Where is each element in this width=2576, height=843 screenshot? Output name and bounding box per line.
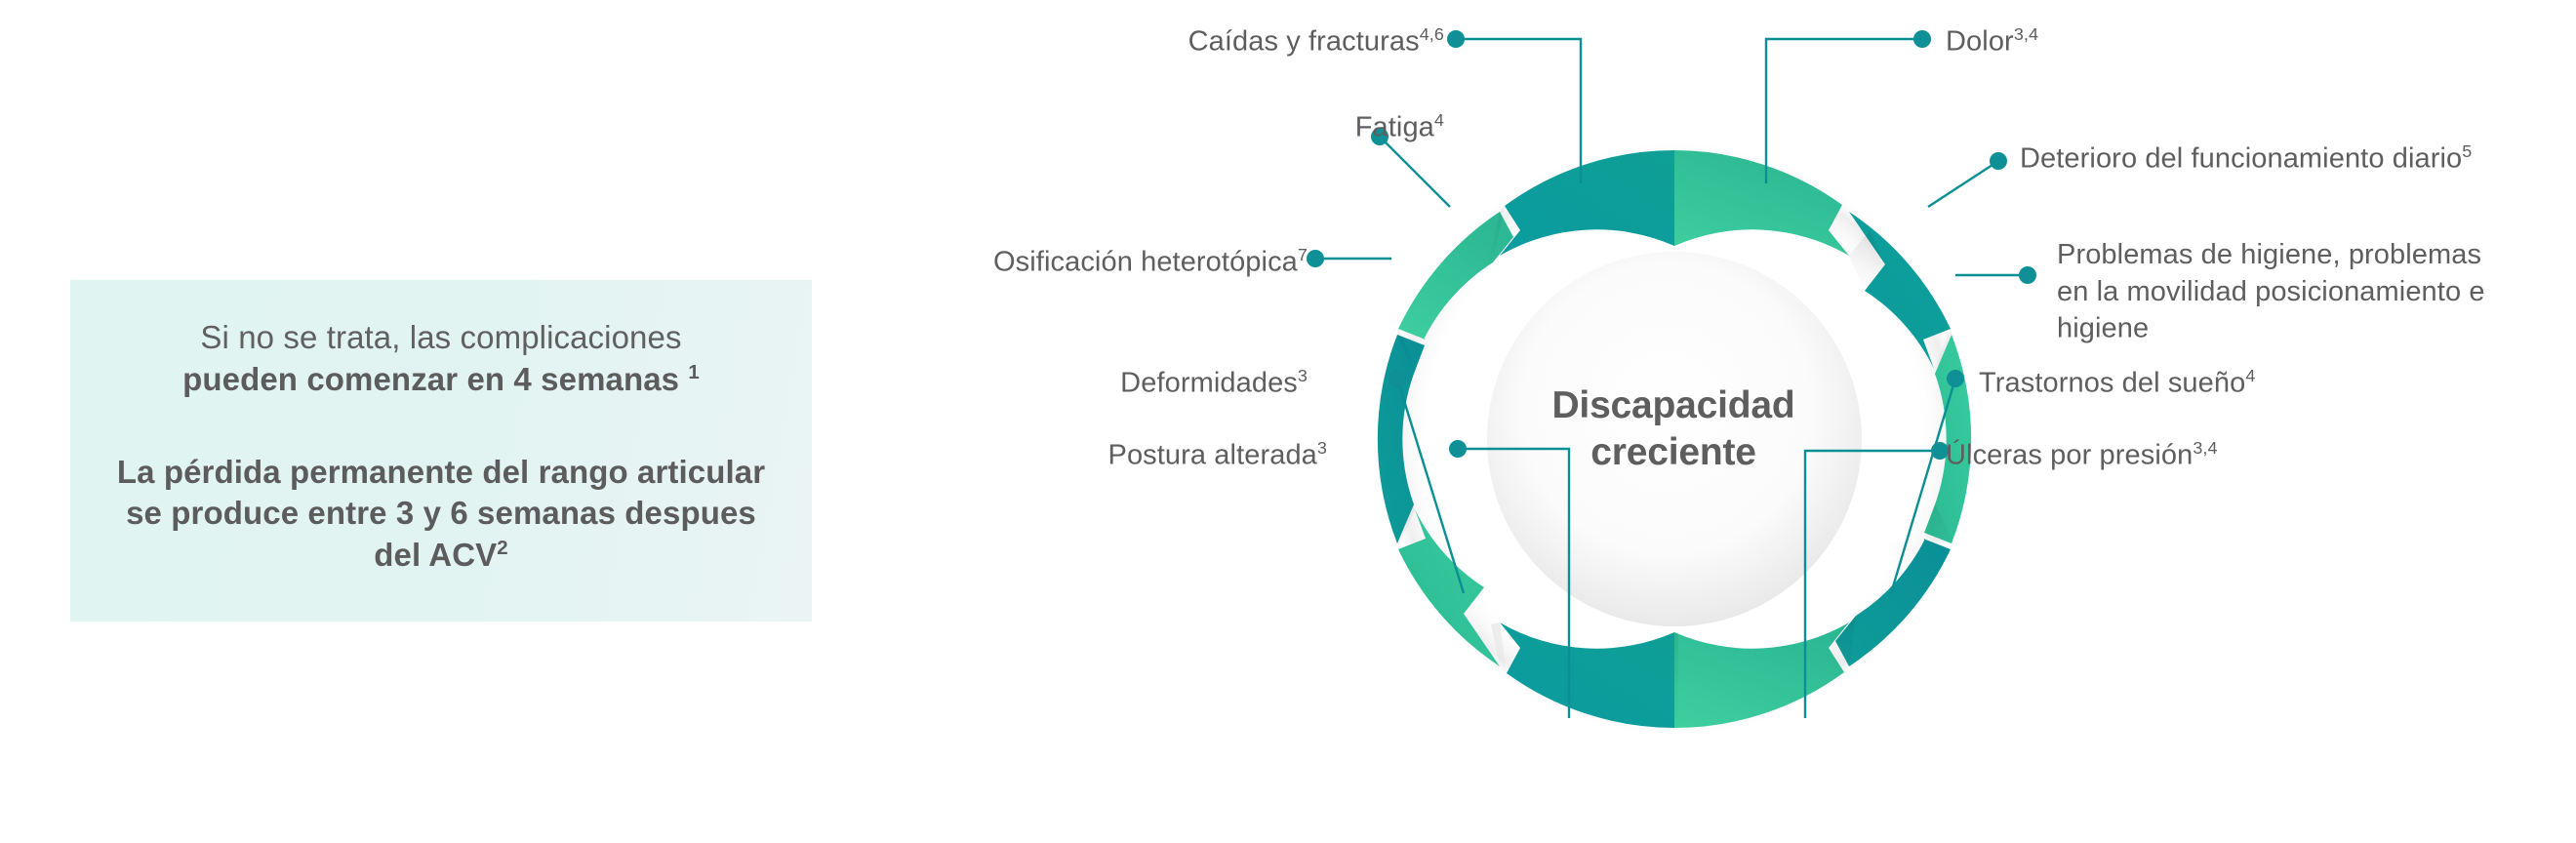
footnote-ref-caidas: 4,6 bbox=[1420, 24, 1444, 44]
callout-problemas-higiene: Problemas de higiene, problemas en la mo… bbox=[2057, 237, 2516, 348]
footnote-ref-deformidades: 3 bbox=[1298, 366, 1308, 385]
info-paragraph-1-light: Si no se trata, las complicaciones bbox=[200, 319, 681, 355]
callout-deformidades: Deformidades3 bbox=[976, 365, 1308, 402]
callout-trastornos-sueno: Trastornos del sueño4 bbox=[1979, 365, 2389, 402]
footnote-ref-ulceras: 3,4 bbox=[2193, 438, 2217, 458]
info-panel: Si no se trata, las complicaciones puede… bbox=[70, 280, 812, 622]
footnote-ref-1: 1 bbox=[688, 361, 699, 383]
callout-osificacion-heterotopica: Osificación heterotópica7 bbox=[839, 244, 1308, 281]
callout-postura-alterada: Postura alterada3 bbox=[976, 437, 1327, 474]
dot-deterioro bbox=[1990, 152, 2007, 170]
info-paragraph-2: La pérdida permanente del rango articula… bbox=[105, 452, 777, 578]
footnote-ref-postura: 3 bbox=[1317, 438, 1327, 458]
footnote-ref-sueno: 4 bbox=[2245, 366, 2255, 385]
infographic-canvas: Si no se trata, las complicaciones puede… bbox=[0, 0, 2576, 843]
footnote-ref-osificacion: 7 bbox=[1298, 245, 1308, 264]
callout-ulceras-por-presion: Úlceras por presión3,4 bbox=[1946, 437, 2355, 474]
info-paragraph-1: Si no se trata, las complicaciones puede… bbox=[105, 317, 777, 401]
footnote-ref-dolor: 3,4 bbox=[2014, 24, 2038, 44]
dot-caidas bbox=[1447, 30, 1465, 48]
callout-dolor: Dolor3,4 bbox=[1946, 23, 2277, 60]
footnote-ref-2: 2 bbox=[497, 537, 507, 559]
info-paragraph-1-bold: pueden comenzar en 4 semanas 1 bbox=[182, 361, 700, 397]
footnote-ref-deterioro: 5 bbox=[2462, 141, 2472, 161]
dot-higiene bbox=[2019, 266, 2036, 284]
callout-fatiga: Fatiga4 bbox=[1112, 109, 1444, 146]
callout-caidas-y-fracturas: Caídas y fracturas4,6 bbox=[1083, 23, 1444, 60]
dot-dolor bbox=[1913, 30, 1931, 48]
info-paragraph-2-bold: La pérdida permanente del rango articula… bbox=[117, 454, 765, 574]
callout-deterioro-funcionamiento: Deterioro del funcionamiento diario5 bbox=[2020, 140, 2508, 178]
dot-osificacion bbox=[1307, 250, 1324, 267]
footnote-ref-fatiga: 4 bbox=[1434, 110, 1444, 130]
donut-diagram bbox=[1374, 137, 1975, 742]
